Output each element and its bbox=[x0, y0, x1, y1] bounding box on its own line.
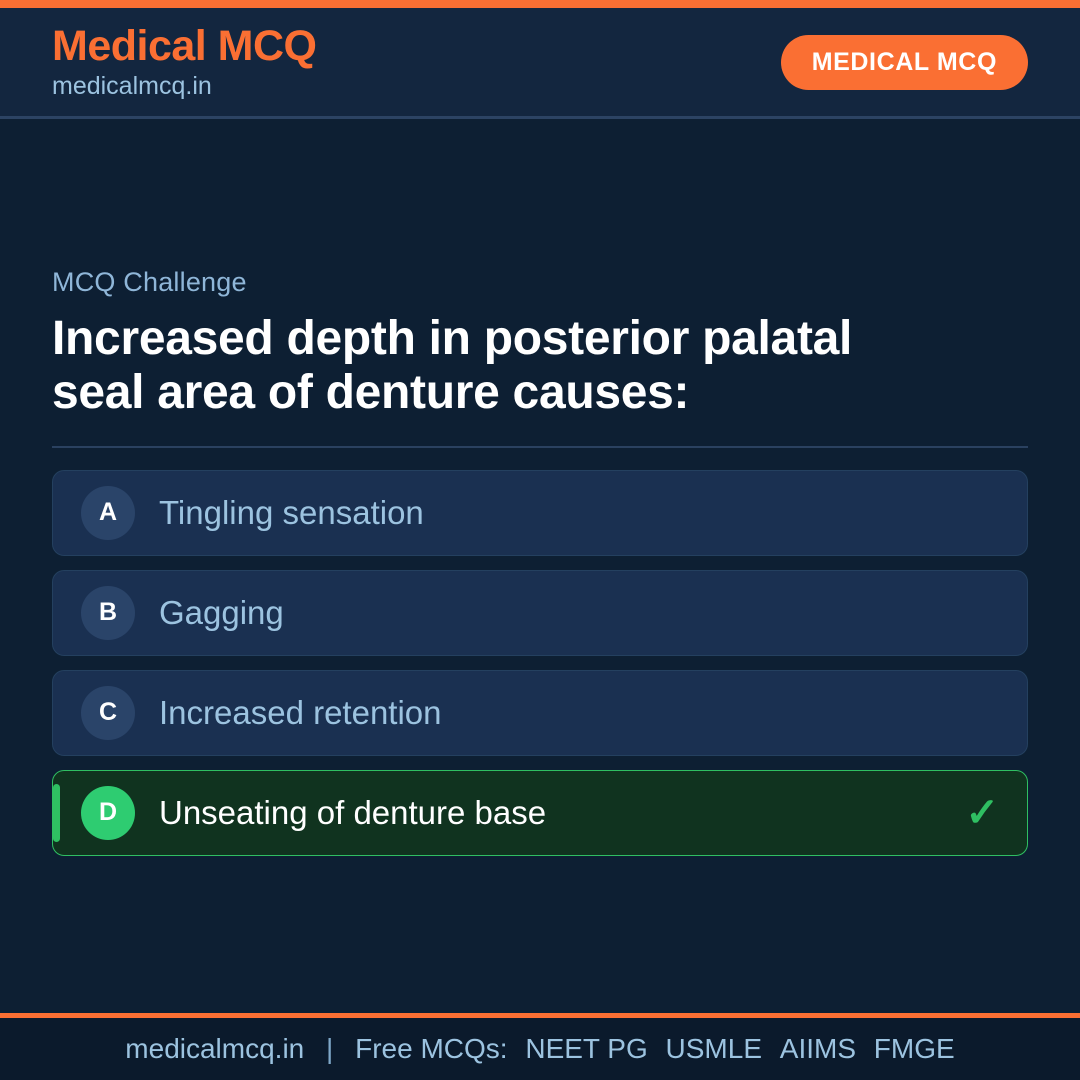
options-list: A Tingling sensation B Gagging C Increas… bbox=[52, 470, 1028, 856]
option-label: Unseating of denture base bbox=[159, 794, 546, 832]
option-letter-badge: A bbox=[81, 486, 135, 540]
correct-check-icon: ✓ bbox=[965, 793, 999, 833]
brand: Medical MCQ medicalmcq.in bbox=[52, 25, 317, 99]
option-letter-badge: D bbox=[81, 786, 135, 840]
footer-tag-neet-pg: NEET PG bbox=[515, 1033, 647, 1064]
option-letter-badge: B bbox=[81, 586, 135, 640]
option-row-c[interactable]: C Increased retention bbox=[52, 670, 1028, 756]
footer-tag-fmge: FMGE bbox=[864, 1033, 955, 1064]
footer-tag-aiims: AIIMS bbox=[770, 1033, 856, 1064]
option-row-d[interactable]: D Unseating of denture base ✓ bbox=[52, 770, 1028, 856]
footer-label: Free MCQs: bbox=[355, 1033, 507, 1064]
question-divider bbox=[52, 446, 1028, 448]
top-accent-bar bbox=[0, 0, 1080, 8]
header-badge: MEDICAL MCQ bbox=[781, 35, 1028, 90]
page-header: Medical MCQ medicalmcq.in MEDICAL MCQ bbox=[0, 8, 1080, 119]
question-text: Increased depth in posterior palatal sea… bbox=[52, 312, 912, 420]
footer-site[interactable]: medicalmcq.in bbox=[125, 1033, 304, 1064]
eyebrow-label: MCQ Challenge bbox=[52, 267, 1028, 298]
footer-tag-usmle: USMLE bbox=[656, 1033, 762, 1064]
brand-title: Medical MCQ bbox=[52, 25, 317, 68]
mcq-card: Medical MCQ medicalmcq.in MEDICAL MCQ MC… bbox=[0, 0, 1080, 1080]
option-label: Gagging bbox=[159, 594, 284, 632]
option-label: Tingling sensation bbox=[159, 494, 424, 532]
option-label: Increased retention bbox=[159, 694, 442, 732]
footer-text: medicalmcq.in | Free MCQs: NEET PG USMLE… bbox=[125, 1033, 954, 1065]
main-content: MCQ Challenge Increased depth in posteri… bbox=[0, 119, 1080, 1013]
option-row-a[interactable]: A Tingling sensation bbox=[52, 470, 1028, 556]
option-letter-badge: C bbox=[81, 686, 135, 740]
correct-accent-bar bbox=[53, 784, 60, 842]
brand-subtitle: medicalmcq.in bbox=[52, 74, 317, 99]
option-row-b[interactable]: B Gagging bbox=[52, 570, 1028, 656]
footer-separator: | bbox=[312, 1033, 347, 1064]
page-footer: medicalmcq.in | Free MCQs: NEET PG USMLE… bbox=[0, 1013, 1080, 1080]
